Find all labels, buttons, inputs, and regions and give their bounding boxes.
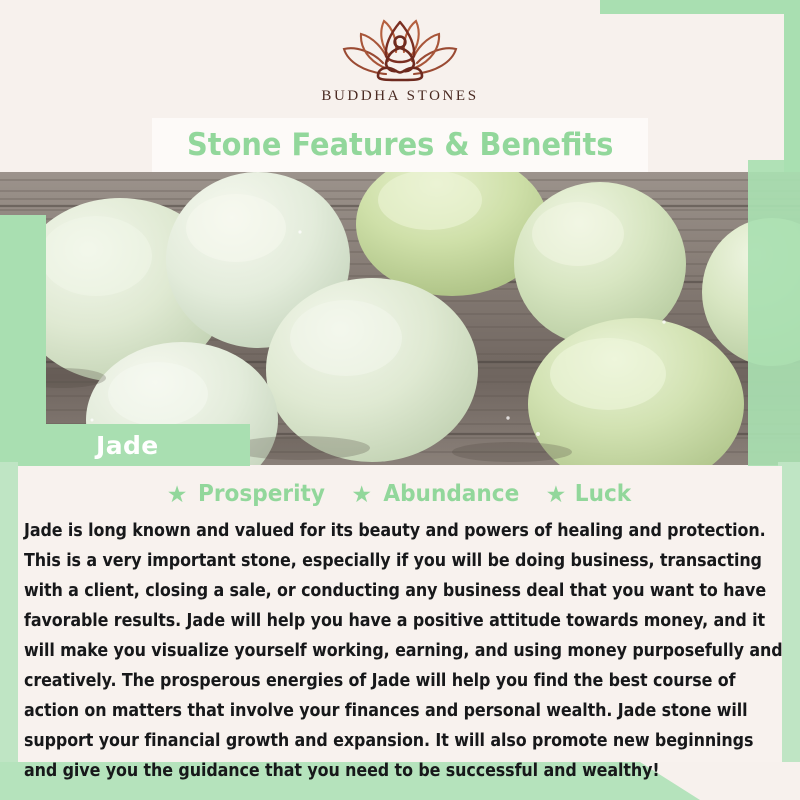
benefit-item-prosperity: ★ Prosperity [167, 481, 330, 507]
benefit-item-luck: ★ Luck [546, 481, 634, 507]
decor-green-right-band [748, 160, 800, 470]
benefit-label: Abundance [383, 481, 519, 507]
jade-stones-photo [0, 172, 800, 465]
stone-description-panel: ★ Prosperity ★ Abundance ★ Luck Jade is … [18, 466, 782, 762]
stone-name-label: Jade [96, 431, 159, 460]
benefit-item-abundance: ★ Abundance [351, 481, 523, 507]
benefit-label: Prosperity [198, 481, 325, 507]
star-icon: ★ [351, 483, 372, 506]
stone-name-band: Jade [18, 424, 250, 466]
benefit-label: Luck [575, 481, 631, 507]
benefits-row: ★ Prosperity ★ Abundance ★ Luck [18, 466, 782, 510]
lotus-meditation-icon [340, 16, 460, 82]
brand-wordmark: BUDDHA STONES [321, 88, 478, 105]
stone-description-text: Jade is long known and valued for its be… [24, 516, 783, 786]
brand-header: BUDDHA STONES [0, 0, 800, 120]
page-title: Stone Features & Benefits [187, 127, 613, 163]
title-banner: Stone Features & Benefits [152, 118, 648, 172]
star-icon: ★ [167, 483, 188, 506]
star-icon: ★ [546, 483, 567, 506]
stone-info-poster: BUDDHA STONES Stone Features & Benefits [0, 0, 800, 800]
